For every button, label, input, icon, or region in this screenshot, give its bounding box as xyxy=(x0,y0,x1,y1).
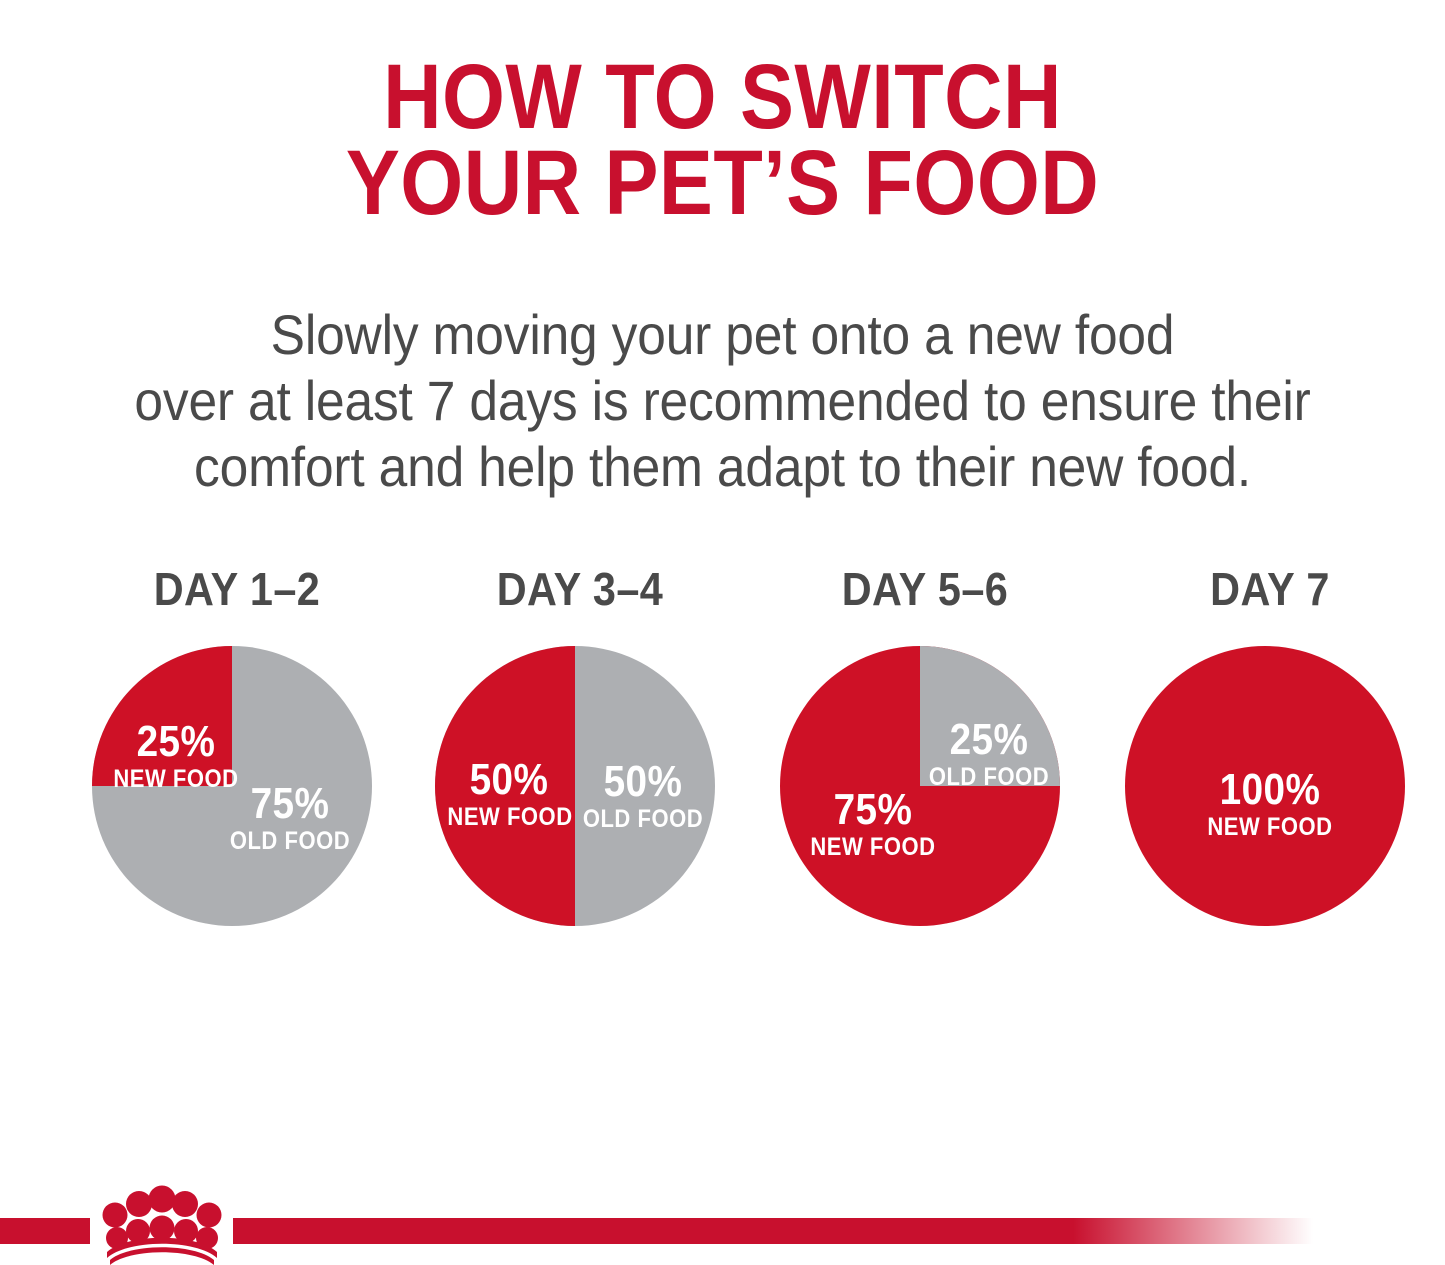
pie-chart-day-1-2: DAY 1–2 25% NEW FOOD 75% OLD FOOD xyxy=(72,560,402,960)
pie-value-1b: 75% xyxy=(213,782,368,826)
footer-bar-right-segment xyxy=(233,1218,1313,1244)
pie-foodname-3b: NEW FOOD xyxy=(798,835,948,860)
page-subtitle-line-3: comfort and help them adapt to their new… xyxy=(58,434,1387,500)
pie-chart-day-7: DAY 7 100% NEW FOOD xyxy=(1105,560,1435,960)
pie-foodname-4a: NEW FOOD xyxy=(1200,815,1341,840)
pie-foodname-3a: OLD FOOD xyxy=(923,765,1055,790)
pie-foodname-2b: OLD FOOD xyxy=(581,807,704,832)
page-subtitle: Slowly moving your pet onto a new food o… xyxy=(58,302,1387,500)
pie-foodname-1b: OLD FOOD xyxy=(213,829,368,854)
page-title: HOW TO SWITCH YOUR PET’S FOOD xyxy=(87,54,1359,226)
pie-label-old-food-3: 25% OLD FOOD xyxy=(923,718,1055,790)
pie-label-new-food-3: 75% NEW FOOD xyxy=(798,788,948,860)
pie-value-1a: 25% xyxy=(106,720,247,764)
page-title-line-1: HOW TO SWITCH xyxy=(87,54,1359,140)
page-subtitle-line-2: over at least 7 days is recommended to e… xyxy=(58,368,1387,434)
pie-value-4a: 100% xyxy=(1200,768,1341,812)
page-title-line-2: YOUR PET’S FOOD xyxy=(87,140,1359,226)
page-subtitle-line-1: Slowly moving your pet onto a new food xyxy=(58,302,1387,368)
pie-value-2a: 50% xyxy=(447,758,570,802)
footer-bar-left-segment xyxy=(0,1218,90,1244)
day-label-3: DAY 5–6 xyxy=(777,564,1074,614)
pie-foodname-2a: NEW FOOD xyxy=(447,805,570,830)
pie-label-new-food-4: 100% NEW FOOD xyxy=(1200,768,1341,840)
pie-value-3b: 75% xyxy=(798,788,948,832)
pie-chart-row: DAY 1–2 25% NEW FOOD 75% OLD FOOD DAY 3–… xyxy=(0,560,1445,960)
day-label-1: DAY 1–2 xyxy=(89,564,386,614)
pie-label-old-food-2: 50% OLD FOOD xyxy=(581,760,704,832)
royal-canin-crown-icon xyxy=(92,1182,232,1265)
footer-brand-bar xyxy=(0,1180,1445,1265)
pie-chart-day-5-6: DAY 5–6 25% OLD FOOD 75% NEW FOOD xyxy=(760,560,1090,960)
pie-label-new-food-2: 50% NEW FOOD xyxy=(447,758,570,830)
pie-chart-day-3-4: DAY 3–4 50% NEW FOOD 50% OLD FOOD xyxy=(415,560,745,960)
pie-value-3a: 25% xyxy=(923,718,1055,762)
day-label-4: DAY 7 xyxy=(1122,564,1419,614)
pie-label-old-food-1: 75% OLD FOOD xyxy=(213,782,368,854)
day-label-2: DAY 3–4 xyxy=(432,564,729,614)
pie-value-2b: 50% xyxy=(581,760,704,804)
